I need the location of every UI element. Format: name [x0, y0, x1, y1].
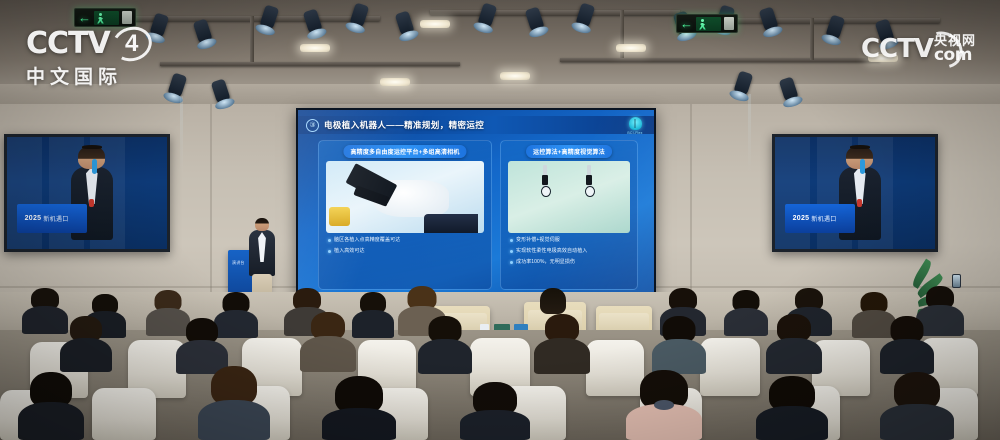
speaker-badge	[857, 199, 862, 207]
ceiling-lamp	[500, 72, 530, 80]
audience-member	[766, 314, 822, 374]
robot-tool	[329, 207, 350, 226]
speaker-hair	[82, 145, 102, 149]
exit-sign-left: ←	[74, 8, 136, 27]
screen-banner-right: 2025 新机遇口	[785, 204, 855, 233]
truss-post	[810, 18, 814, 60]
panel-header: 高精度多自由度运控平台+多组高清相机	[343, 145, 466, 158]
audience-member	[352, 292, 394, 338]
banner-text: 新机遇口	[811, 214, 836, 223]
speaker-hair	[850, 145, 870, 149]
audience-shoulders	[534, 338, 590, 374]
exit-arrow-icon: ←	[78, 11, 91, 24]
audience-shoulders	[880, 339, 934, 374]
channel-subtitle: 中文国际	[26, 62, 152, 89]
exit-sign-panel	[122, 11, 132, 24]
screen-banner-left: 2025 新机遇口	[17, 204, 87, 233]
cctv-wordmark: CCTV	[26, 26, 110, 61]
channel-number: 4	[112, 27, 152, 61]
slide-number-marker: ③	[306, 119, 319, 132]
running-man-icon	[94, 11, 119, 25]
banner-year: 2025	[25, 215, 42, 222]
audience-shoulders	[352, 310, 394, 338]
phone-icon	[952, 274, 961, 288]
audience-shoulders	[300, 336, 356, 372]
audience-chair	[700, 338, 760, 396]
audience-shoulders	[756, 406, 828, 440]
audience-shoulders	[880, 404, 954, 440]
bullet-dot-icon	[328, 250, 331, 253]
running-man-icon	[696, 17, 721, 31]
light-beam	[748, 94, 751, 174]
site-logo: CCTV 央视网 com	[861, 34, 976, 64]
lighting-truss	[160, 62, 460, 66]
audience-shoulders	[460, 410, 530, 440]
audience-shoulders	[418, 339, 472, 374]
audience-shoulders	[724, 308, 768, 336]
bullet-dot-icon	[510, 261, 513, 264]
slide-content: ③ 电极植入机器人——精准规划，精密运控 BCI-Flex 高精度多自由度运控平…	[298, 110, 654, 296]
bullet-text: 植入高效可达	[334, 248, 365, 255]
bullet-text: 实现软性柔性电极高效自动植入	[516, 248, 587, 255]
speaker-badge	[89, 199, 94, 207]
ceiling-lamp	[300, 44, 330, 52]
side-screen-content: 2025 新机遇口	[7, 137, 167, 249]
bullet-dot-icon	[328, 239, 331, 242]
surgical-robot-photo	[326, 161, 484, 233]
slide-panel-right: 运控算法+高精度视觉算法 变形	[500, 140, 638, 290]
bullet-item: 实现软性柔性电极高效自动植入	[510, 248, 630, 255]
channel-logo: CCTV 4 中文国际	[26, 26, 152, 89]
audience-shoulders	[18, 402, 84, 440]
banner-year: 2025	[793, 215, 810, 222]
truss-post	[250, 16, 254, 62]
bullet-item: 成功率100%，无明显损伤	[510, 259, 630, 266]
audience-member	[60, 316, 112, 372]
robot-base	[424, 214, 478, 233]
audience-member	[880, 316, 934, 374]
slide-panel-left: 高精度多自由度运控平台+多组高清相机 脑区各植入点高精度覆盖可达 植入	[318, 140, 492, 290]
bullet-dot-icon	[510, 250, 513, 253]
exit-arrow-icon: ←	[680, 17, 693, 30]
audience-member	[18, 372, 84, 440]
slide-title: 电极植入机器人——精准规划，精密运控	[324, 119, 484, 131]
audience-member	[534, 314, 590, 374]
wall-seam	[210, 104, 212, 294]
banner-text: 新机遇口	[43, 214, 68, 223]
light-beam	[180, 96, 183, 176]
microphone-icon	[860, 159, 865, 174]
broadcast-frame: ← ← 2025 新机遇口	[0, 0, 1000, 440]
slide-logo-label: BCI-Flex	[627, 131, 642, 135]
probe-ring	[585, 186, 595, 198]
audience-chair	[92, 388, 156, 440]
audience-shoulders	[322, 408, 396, 440]
audience-member	[880, 372, 954, 440]
side-screen-content: 2025 新机遇口	[775, 137, 935, 249]
audience-member	[626, 370, 702, 440]
audience-member	[418, 316, 472, 374]
channel-logo-row: CCTV 4	[26, 26, 152, 61]
channel-number-badge: 4	[112, 27, 152, 61]
wall-seam	[690, 104, 692, 294]
bullet-dot-icon	[510, 239, 513, 242]
audience-member	[652, 316, 706, 374]
exit-sign-panel	[724, 17, 734, 30]
lighting-truss	[430, 10, 680, 15]
lighting-truss	[560, 58, 880, 62]
probe-left	[540, 165, 551, 202]
bullet-item: 变形补偿+视觉伺服	[510, 237, 630, 244]
main-presentation-screen: ③ 电极植入机器人——精准规划，精密运控 BCI-Flex 高精度多自由度运控平…	[296, 108, 656, 298]
probe-right	[584, 165, 595, 202]
seated-guest	[540, 288, 566, 314]
bullet-item: 脑区各植入点高精度覆盖可达	[328, 237, 484, 244]
hair-tie	[654, 400, 674, 410]
bullet-text: 脑区各植入点高精度覆盖可达	[334, 237, 400, 244]
side-led-screen-right: 2025 新机遇口	[772, 134, 938, 252]
exit-sign-right: ←	[676, 14, 738, 33]
slide-title-bar: ③ 电极植入机器人——精准规划，精密运控	[298, 116, 654, 134]
audience-shoulders	[766, 338, 822, 374]
probe-ring	[541, 186, 551, 198]
panel-bullets: 变形补偿+视觉伺服 实现软性柔性电极高效自动植入 成功率100%，无明显损伤	[510, 237, 630, 265]
probe-block	[542, 175, 548, 185]
microphone-icon	[92, 159, 97, 174]
bullet-text: 成功率100%，无明显损伤	[516, 259, 575, 266]
presenter-head	[255, 218, 268, 231]
audience-member	[198, 366, 270, 440]
ceiling-lamp	[616, 44, 646, 52]
brain-logo-icon	[629, 117, 642, 130]
probe-block	[586, 175, 592, 185]
side-led-screen-left: 2025 新机遇口	[4, 134, 170, 252]
audience-shoulders	[198, 400, 270, 440]
audience-member	[460, 382, 530, 440]
audience-member	[300, 312, 356, 372]
ceiling-lamp	[380, 78, 410, 86]
bullet-item: 植入高效可达	[328, 248, 484, 255]
ceiling-lamp	[420, 20, 450, 28]
audience-member	[322, 376, 396, 440]
slide-brand-logo: BCI-Flex	[622, 114, 648, 138]
panel-bullets: 脑区各植入点高精度覆盖可达 植入高效可达	[328, 237, 484, 255]
audience-shoulders	[60, 338, 112, 372]
audience-member	[724, 290, 768, 336]
audience-member	[756, 376, 828, 440]
panel-header: 运控算法+高精度视觉算法	[526, 145, 612, 158]
podium-label: 演讲台	[232, 260, 245, 266]
audience-shoulders	[652, 339, 706, 374]
bullet-text: 变形补偿+视觉伺服	[516, 237, 560, 244]
electrode-probe-photo	[508, 161, 630, 233]
